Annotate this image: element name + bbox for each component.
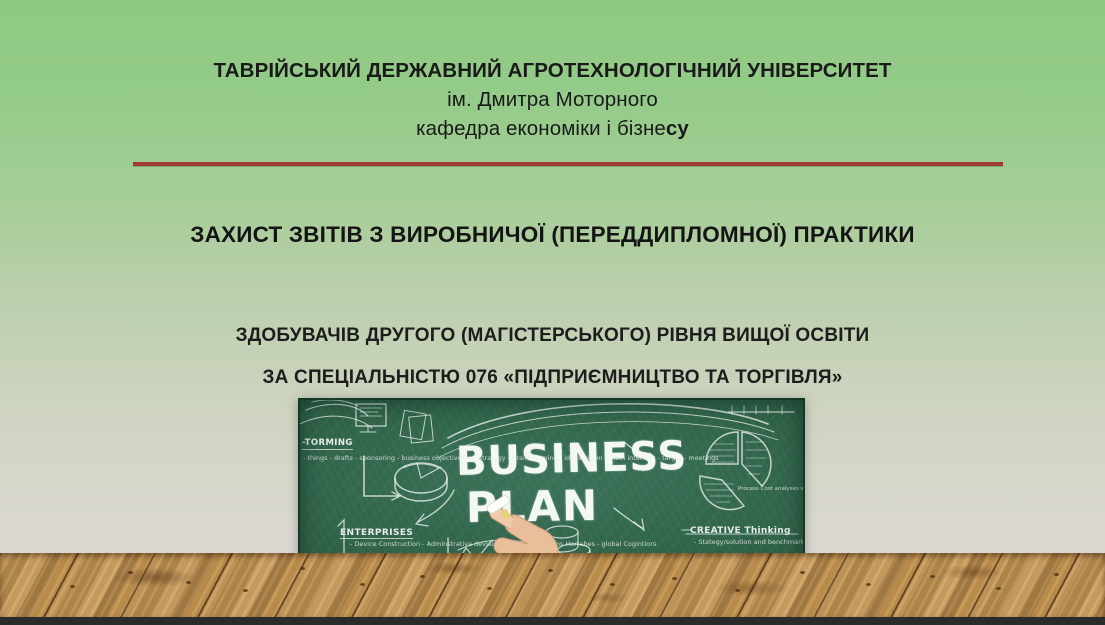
institution-header: ТАВРІЙСЬКИЙ ДЕРЖАВНИЙ АГРОТЕХНОЛОГІЧНИЙ … xyxy=(0,56,1105,143)
university-patron-name: ім. Дмитра Моторного xyxy=(0,85,1105,114)
header-divider-rule xyxy=(133,162,1003,166)
department-name-emphasis: су xyxy=(666,117,689,140)
subtitle-degree-level: ЗДОБУВАЧІВ ДРУГОГО (МАГІСТЕРСЬКОГО) РІВН… xyxy=(0,325,1105,347)
subtitle-specialty: ЗА СПЕЦІАЛЬНІСТЮ 076 «ПІДПРИЄМНИЦТВО ТА … xyxy=(0,367,1105,389)
specialty-code: 076 xyxy=(466,367,498,388)
department-name: кафедра економіки і бізнесу xyxy=(0,114,1105,143)
subtitle-specialty-prefix: ЗА СПЕЦІАЛЬНІСТЮ xyxy=(263,367,466,388)
wooden-floor xyxy=(0,553,1105,617)
presentation-slide: ТАВРІЙСЬКИЙ ДЕРЖАВНИЙ АГРОТЕХНОЛОГІЧНИЙ … xyxy=(0,0,1105,625)
bottom-letterbox-bar xyxy=(0,617,1105,625)
page-title: ЗАХИСТ ЗВІТІВ З ВИРОБНИЧОЇ (ПЕРЕДДИПЛОМН… xyxy=(0,222,1105,248)
subtitle-specialty-suffix: «ПІДПРИЄМНИЦТВО ТА ТОРГІВЛЯ» xyxy=(498,367,842,388)
university-name: ТАВРІЙСЬКИЙ ДЕРЖАВНИЙ АГРОТЕХНОЛОГІЧНИЙ … xyxy=(0,56,1105,85)
department-name-prefix: кафедра економіки і бізне xyxy=(416,117,666,140)
floor-knots xyxy=(0,553,1105,617)
